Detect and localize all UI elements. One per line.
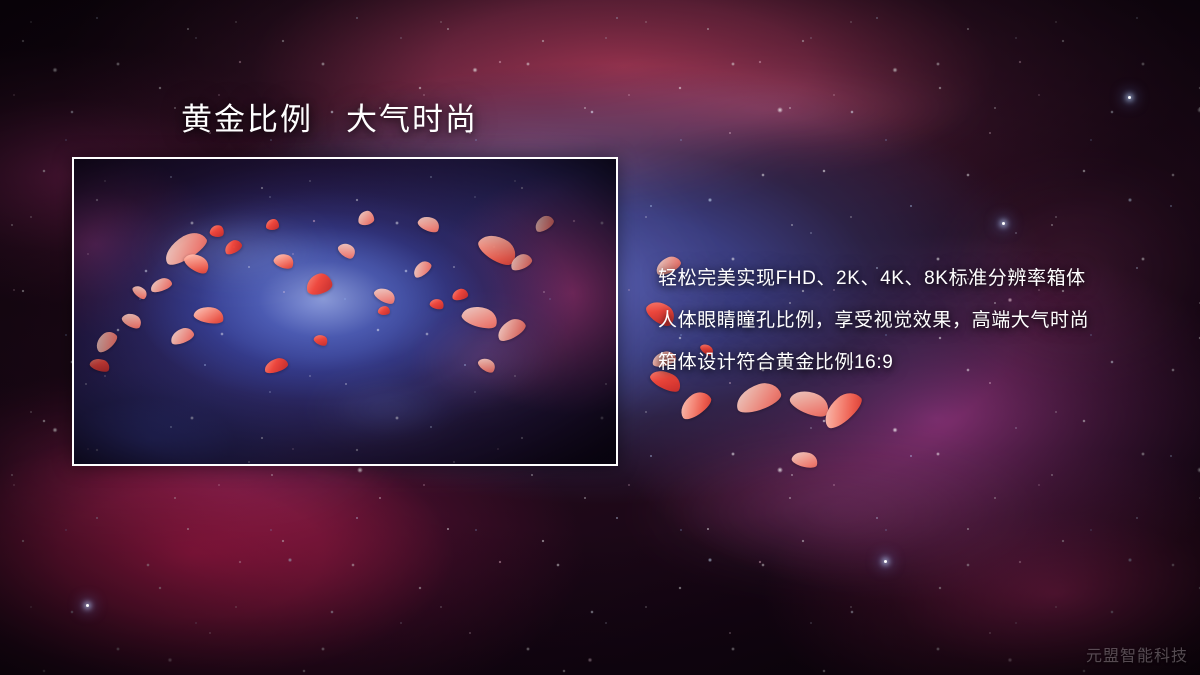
bright-star — [1002, 222, 1005, 225]
company-watermark: 元盟智能科技 — [1086, 642, 1188, 666]
feature-line: 箱体设计符合黄金比例16:9 — [658, 342, 1158, 384]
bright-star — [86, 604, 89, 607]
page-title: 黄金比例 大气时尚 — [181, 101, 478, 138]
feature-line: 人体眼睛瞳孔比例，享受视觉效果，高端大气时尚 — [658, 300, 1158, 342]
feature-description-block: 轻松完美实现FHD、2K、4K、8K标准分辨率箱体 人体眼睛瞳孔比例，享受视觉效… — [658, 258, 1158, 384]
slide-canvas: 黄金比例 大气时尚 轻松完美实现FHD、2K、4K、8K标准分辨率箱体 人体眼睛… — [0, 0, 1200, 675]
bright-star — [1128, 96, 1131, 99]
preview-vignette — [74, 159, 616, 464]
feature-line: 轻松完美实现FHD、2K、4K、8K标准分辨率箱体 — [658, 258, 1158, 300]
product-preview-frame[interactable] — [72, 157, 618, 466]
bright-star — [884, 560, 887, 563]
